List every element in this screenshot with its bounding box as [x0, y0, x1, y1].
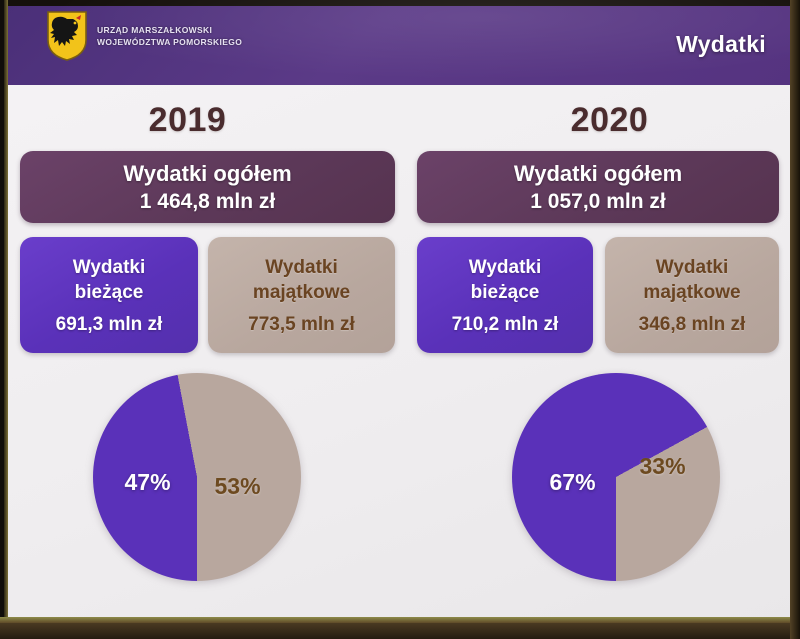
pie-slice-label-capital-2019: 53%	[215, 473, 261, 500]
year-column-2019: 2019 Wydatki ogółem 1 464,8 mln zł Wydat…	[8, 85, 401, 622]
year-heading-2019: 2019	[8, 101, 384, 140]
capital-expenditure-label-line2-2020: majątkowe	[643, 280, 740, 305]
screen-frame-bottom	[0, 623, 800, 639]
capital-expenditure-box-2020: Wydatki majątkowe 346,8 mln zł	[605, 237, 779, 353]
pie-chart-2019: 47% 53%	[93, 373, 301, 581]
presentation-slide: URZĄD MARSZAŁKOWSKI WOJEWÓDZTWA POMORSKI…	[8, 0, 794, 622]
current-expenditure-label-line2-2019: bieżące	[75, 280, 144, 305]
organization-logo: URZĄD MARSZAŁKOWSKI WOJEWÓDZTWA POMORSKI…	[46, 10, 242, 62]
organization-name: URZĄD MARSZAŁKOWSKI WOJEWÓDZTWA POMORSKI…	[97, 24, 242, 48]
logo-line-1: URZĄD MARSZAŁKOWSKI	[97, 24, 242, 36]
pie-slice-label-current-2019: 47%	[125, 469, 171, 496]
current-expenditure-value-2020: 710,2 mln zł	[452, 314, 559, 336]
slide-header: URZĄD MARSZAŁKOWSKI WOJEWÓDZTWA POMORSKI…	[8, 0, 794, 85]
pie-slice-label-current-2020: 67%	[550, 469, 596, 496]
projection-screen-frame: URZĄD MARSZAŁKOWSKI WOJEWÓDZTWA POMORSKI…	[0, 0, 800, 639]
current-expenditure-box-2020: Wydatki bieżące 710,2 mln zł	[417, 237, 593, 353]
capital-expenditure-label-line2-2019: majątkowe	[253, 280, 350, 305]
pie-chart-wrapper-2020: 67% 33%	[401, 373, 794, 581]
total-expenditure-box-2019: Wydatki ogółem 1 464,8 mln zł	[20, 151, 395, 223]
current-expenditure-label-line1-2020: Wydatki	[469, 255, 542, 280]
current-expenditure-label-line2-2020: bieżące	[471, 280, 540, 305]
page-title: Wydatki	[676, 31, 766, 58]
pie-chart-wrapper-2019: 47% 53%	[8, 373, 401, 581]
total-expenditure-value-2019: 1 464,8 mln zł	[140, 188, 275, 215]
year-column-2020: 2020 Wydatki ogółem 1 057,0 mln zł Wydat…	[401, 85, 794, 622]
pomorskie-griffin-crest-icon	[46, 10, 88, 62]
current-expenditure-label-line1-2019: Wydatki	[73, 255, 146, 280]
total-expenditure-label-2020: Wydatki ogółem	[514, 160, 682, 188]
slide-body: 2019 Wydatki ogółem 1 464,8 mln zł Wydat…	[8, 85, 794, 622]
screen-frame-right	[790, 0, 800, 639]
total-expenditure-label-2019: Wydatki ogółem	[123, 160, 291, 188]
pie-chart-2020: 67% 33%	[512, 373, 720, 581]
pie-slice-label-capital-2020: 33%	[640, 453, 686, 480]
total-expenditure-box-2020: Wydatki ogółem 1 057,0 mln zł	[417, 151, 779, 223]
total-expenditure-value-2020: 1 057,0 mln zł	[530, 188, 665, 215]
header-top-edge	[8, 0, 794, 6]
current-expenditure-box-2019: Wydatki bieżące 691,3 mln zł	[20, 237, 198, 353]
current-expenditure-value-2019: 691,3 mln zł	[56, 314, 163, 336]
year-heading-2020: 2020	[413, 101, 794, 140]
capital-expenditure-value-2020: 346,8 mln zł	[639, 314, 746, 336]
screen-left-bevel	[4, 0, 8, 622]
logo-line-2: WOJEWÓDZTWA POMORSKIEGO	[97, 36, 242, 48]
capital-expenditure-label-line1-2020: Wydatki	[656, 255, 729, 280]
capital-expenditure-label-line1-2019: Wydatki	[265, 255, 338, 280]
capital-expenditure-box-2019: Wydatki majątkowe 773,5 mln zł	[208, 237, 395, 353]
capital-expenditure-value-2019: 773,5 mln zł	[248, 314, 355, 336]
